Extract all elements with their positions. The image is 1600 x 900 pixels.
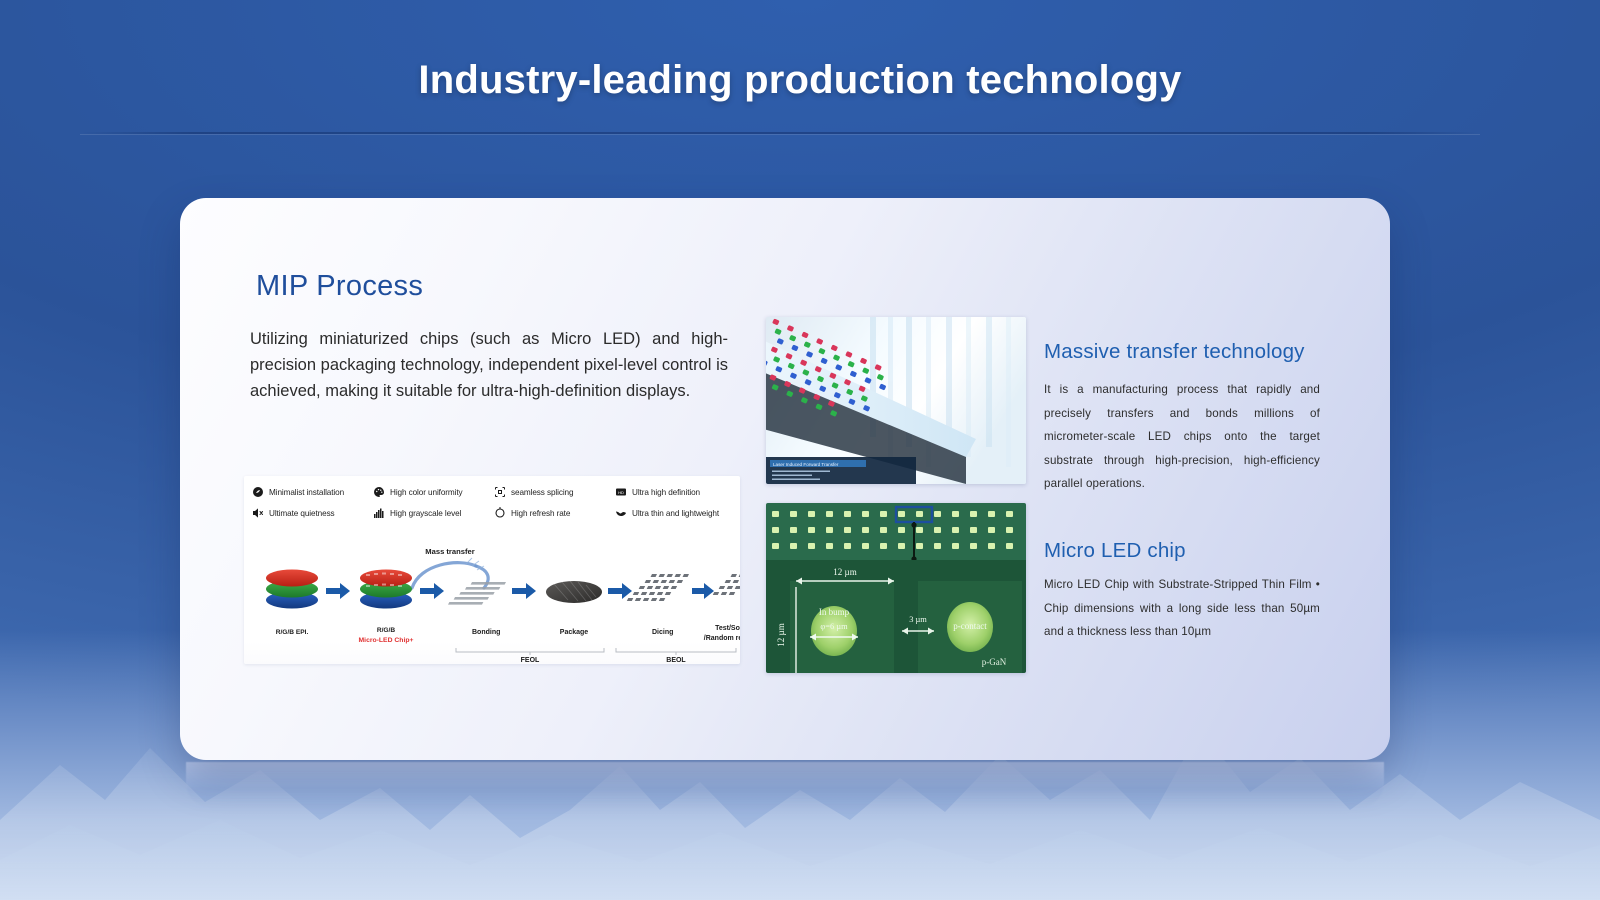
process-flow-diagram: Mass transfer R/G/B EPI.	[244, 530, 740, 664]
section-title: MIP Process	[256, 270, 423, 303]
feature-label: Minimalist installation	[269, 488, 344, 497]
svg-text:φ=6 µm: φ=6 µm	[820, 622, 848, 631]
micro-led-chip-photo: 12 µm 12 µm 3 µm In bump φ=6	[766, 503, 1026, 673]
svg-text:/Random replace: /Random replace	[704, 635, 740, 642]
svg-text:Bonding: Bonding	[472, 629, 500, 636]
card-reflection	[186, 762, 1384, 808]
minimalist-installation-icon	[252, 486, 264, 498]
svg-text:BEOL: BEOL	[666, 657, 686, 664]
refresh-rate-icon	[494, 507, 506, 519]
svg-text:HD: HD	[618, 490, 624, 495]
feature-item: Ultimate quietness	[252, 507, 371, 519]
feature-label: Ultra thin and lightweight	[632, 509, 719, 518]
feature-label: High refresh rate	[511, 509, 570, 518]
feature-label: seamless splicing	[511, 488, 573, 497]
svg-text:R/G/B: R/G/B	[377, 627, 396, 634]
svg-text:FEOL: FEOL	[521, 657, 540, 664]
mip-process-figure: Minimalist installation High color unifo…	[244, 476, 740, 664]
feature-item: HD Ultra high definition	[615, 486, 734, 498]
ultra-high-definition-icon: HD	[615, 486, 627, 498]
svg-text:Mass transfer: Mass transfer	[425, 547, 474, 556]
feature-label: High color uniformity	[390, 488, 463, 497]
svg-text:12 µm: 12 µm	[776, 623, 786, 646]
content-card: MIP Process Utilizing miniaturized chips…	[180, 198, 1390, 760]
svg-text:R/G/B EPI.: R/G/B EPI.	[276, 629, 309, 636]
feature-item: High grayscale level	[373, 507, 492, 519]
svg-text:Laser Induced Forward Transfer: Laser Induced Forward Transfer	[773, 462, 839, 467]
svg-text:3 µm: 3 µm	[909, 615, 927, 624]
quietness-icon	[252, 507, 264, 519]
feather-icon	[615, 507, 627, 519]
right-heading-micro-led-chip: Micro LED chip	[1044, 539, 1186, 563]
massive-transfer-photo: Laser Induced Forward Transfer	[766, 317, 1026, 484]
feature-item: High color uniformity	[373, 486, 492, 498]
color-palette-icon	[373, 486, 385, 498]
svg-text:Micro-LED Chip+: Micro-LED Chip+	[359, 637, 414, 644]
svg-text:In bump: In bump	[819, 607, 850, 617]
feature-item: High refresh rate	[494, 507, 613, 519]
title-divider	[80, 132, 1480, 134]
feature-label: Ultra high definition	[632, 488, 700, 497]
right-body-micro-led-chip: Micro LED Chip with Substrate-Stripped T…	[1044, 573, 1320, 644]
feature-item: Ultra thin and lightweight	[615, 507, 734, 519]
svg-text:Test/Sort: Test/Sort	[715, 625, 740, 632]
right-body-massive-transfer: It is a manufacturing process that rapid…	[1044, 378, 1320, 496]
slide: Industry-leading production technology M…	[0, 0, 1600, 900]
feature-list: Minimalist installation High color unifo…	[252, 486, 734, 519]
svg-text:Package: Package	[560, 629, 589, 636]
feature-label: High grayscale level	[390, 509, 461, 518]
grayscale-icon	[373, 507, 385, 519]
svg-text:p-GaN: p-GaN	[982, 657, 1007, 667]
svg-text:p-contact: p-contact	[953, 621, 987, 631]
page-title: Industry-leading production technology	[0, 58, 1600, 103]
right-heading-massive-transfer: Massive transfer technology	[1044, 340, 1305, 364]
seamless-splicing-icon	[494, 486, 506, 498]
feature-label: Ultimate quietness	[269, 509, 335, 518]
svg-text:12 µm: 12 µm	[833, 567, 856, 577]
feature-item: seamless splicing	[494, 486, 613, 498]
section-description: Utilizing miniaturized chips (such as Mi…	[250, 326, 728, 404]
feature-item: Minimalist installation	[252, 486, 371, 498]
svg-text:Dicing: Dicing	[652, 629, 673, 636]
